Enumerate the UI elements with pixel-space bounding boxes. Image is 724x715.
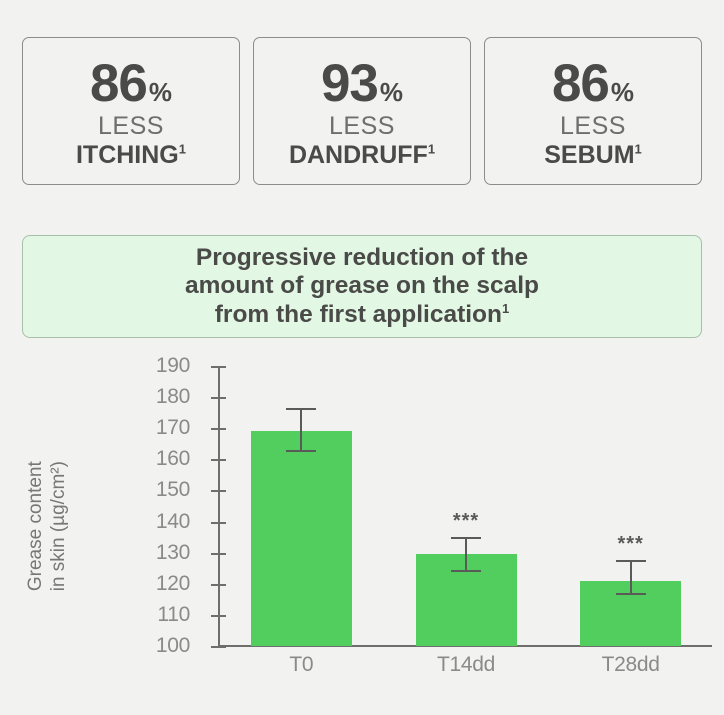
stat-percent-line: 93 % — [321, 57, 403, 110]
stat-unit: % — [149, 79, 172, 105]
error-bar-cap-upper — [616, 560, 646, 562]
y-axis-tick-label: 160 — [156, 448, 190, 469]
stat-footnote-marker: 1 — [428, 141, 435, 156]
x-axis-tick-label: T0 — [289, 653, 313, 677]
chart-title-banner: Progressive reduction of the amount of g… — [22, 235, 702, 338]
chart-title-line-2: amount of grease on the scalp — [185, 272, 539, 300]
y-axis-tick-label: 120 — [156, 573, 190, 594]
error-bar-cap-lower — [286, 450, 316, 452]
x-axis-tick-label: T14dd — [437, 653, 495, 677]
y-axis-tick — [211, 646, 226, 648]
stat-footnote-marker: 1 — [635, 141, 642, 156]
y-axis-tick-label: 150 — [156, 479, 190, 500]
plot-area: ****** — [218, 366, 712, 646]
stats-row: 86 % LESS ITCHING1 93 % LESS DANDRUFF1 8… — [22, 37, 702, 185]
bar-t0 — [251, 431, 352, 646]
y-axis-tick-label: 110 — [157, 604, 190, 625]
y-axis-title-line-2: in skin (µg/cm²) — [47, 411, 70, 641]
stat-label: DANDRUFF1 — [289, 141, 435, 170]
stat-less-text: LESS — [329, 112, 395, 141]
stat-label-text: ITCHING — [76, 141, 179, 169]
chart-title-text: Progressive reduction of the amount of g… — [165, 244, 559, 329]
chart-title-line-3: from the first application1 — [185, 301, 539, 329]
y-axis-tick-label: 140 — [156, 511, 190, 532]
stat-value: 93 — [321, 57, 378, 110]
stat-value: 86 — [90, 57, 147, 110]
x-axis-tick-label: T28dd — [602, 653, 660, 677]
stat-card-dandruff: 93 % LESS DANDRUFF1 — [253, 37, 471, 185]
error-bar-cap-lower — [616, 593, 646, 595]
stat-less-text: LESS — [560, 112, 626, 141]
y-axis-tick-label: 100 — [156, 635, 190, 656]
error-bar-cap-upper — [286, 408, 316, 410]
stat-card-sebum: 86 % LESS SEBUM1 — [484, 37, 702, 185]
stat-footnote-marker: 1 — [179, 141, 186, 156]
error-bar-cap-lower — [451, 570, 481, 572]
y-axis-tick-label: 130 — [156, 542, 190, 563]
stat-unit: % — [380, 79, 403, 105]
chart-title-line-3-text: from the first application — [215, 301, 502, 328]
chart-title-footnote-marker: 1 — [502, 301, 509, 316]
y-axis-tick-label: 180 — [156, 386, 190, 407]
error-bar-cap-upper — [451, 537, 481, 539]
error-bar-t14dd — [465, 537, 467, 570]
significance-annotation-t14dd: *** — [453, 510, 479, 533]
y-axis-title-line-1: Grease content — [24, 411, 47, 641]
stat-unit: % — [611, 79, 634, 105]
bar-chart: Grease content in skin (µg/cm²) 19018017… — [0, 345, 724, 715]
y-axis-tick-label: 170 — [156, 417, 190, 438]
error-bar-t0 — [300, 408, 302, 450]
stat-label-text: DANDRUFF — [289, 141, 428, 169]
stat-value: 86 — [552, 57, 609, 110]
y-axis-tick-labels: 190180170160150140130120110100 — [128, 345, 190, 655]
stat-less-text: LESS — [98, 112, 164, 141]
error-bar-t28dd — [630, 560, 632, 593]
significance-annotation-t28dd: *** — [617, 533, 643, 556]
stat-label: ITCHING1 — [76, 141, 186, 170]
stat-card-itching: 86 % LESS ITCHING1 — [22, 37, 240, 185]
stat-label-text: SEBUM — [544, 141, 634, 169]
stat-label: SEBUM1 — [544, 141, 642, 170]
stat-percent-line: 86 % — [90, 57, 172, 110]
chart-title-line-1: Progressive reduction of the — [185, 244, 539, 272]
y-axis-tick-label: 190 — [156, 355, 190, 376]
stat-percent-line: 86 % — [552, 57, 634, 110]
y-axis-title: Grease content in skin (µg/cm²) — [24, 411, 70, 641]
